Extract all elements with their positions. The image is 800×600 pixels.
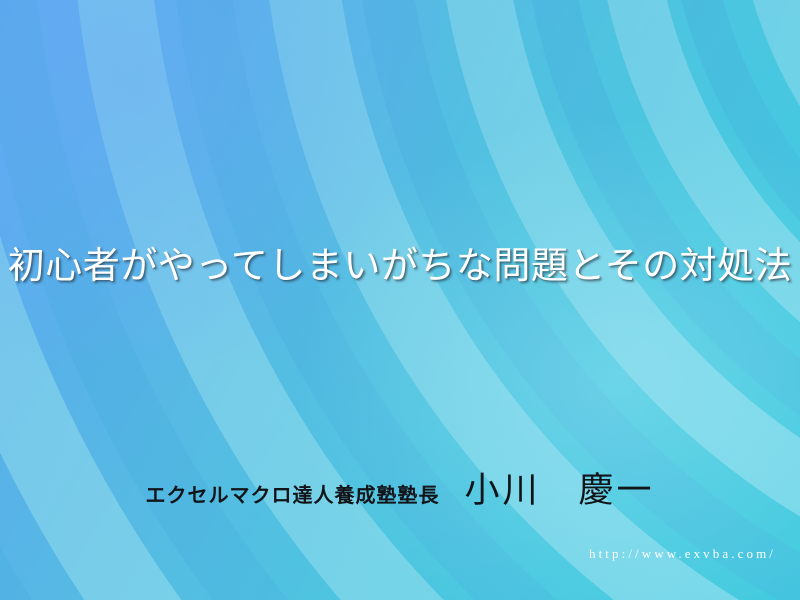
presenter-name: 小川 慶一 — [464, 471, 654, 510]
center-light-glow — [300, 120, 800, 600]
presenter-line: エクセルマクロ達人養成塾塾長 小川 慶一 — [0, 462, 800, 513]
presenter-organization: エクセルマクロ達人養成塾塾長 — [146, 485, 440, 507]
top-left-blue-glow — [0, 0, 440, 360]
slide-title: 初心者がやってしまいがちな問題とその対処法 — [0, 243, 800, 289]
website-url[interactable]: http://www.exvba.com/ — [589, 546, 776, 562]
presentation-slide: 初心者がやってしまいがちな問題とその対処法 エクセルマクロ達人養成塾塾長 小川 … — [0, 0, 800, 600]
